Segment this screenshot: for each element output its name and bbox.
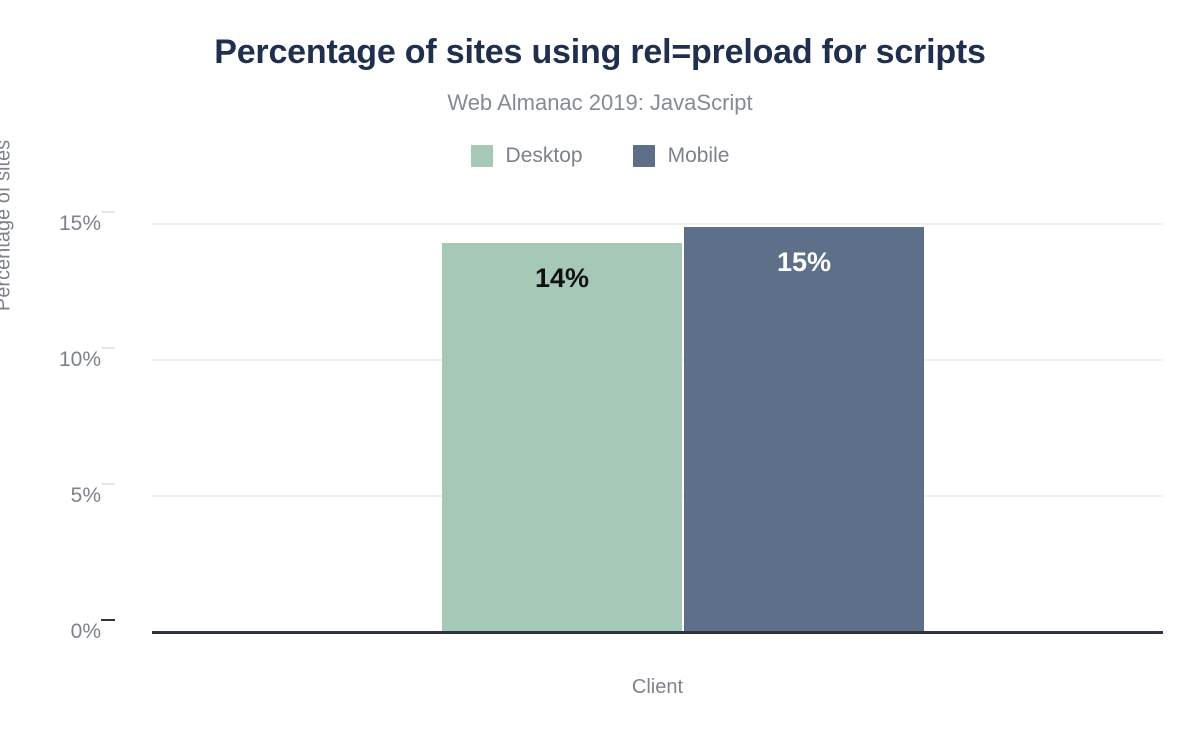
bar-value-label-mobile: 15% [684, 247, 924, 278]
legend-item-mobile[interactable]: Mobile [633, 144, 730, 168]
y-axis-title: Percentage of sites [0, 0, 16, 486]
legend-swatch-mobile [633, 145, 655, 167]
chart-title: Percentage of sites using rel=preload fo… [0, 33, 1200, 72]
legend-swatch-desktop [471, 145, 493, 167]
bar-value-label-desktop: 14% [442, 263, 682, 294]
plot-area: 0%5%10%15%14%15% [152, 205, 1163, 632]
gridline [152, 223, 1163, 225]
x-axis-title: Client [152, 676, 1163, 699]
legend-label-mobile: Mobile [668, 144, 730, 168]
chart-legend: Desktop Mobile [0, 144, 1200, 168]
y-axis-tick-label: 10% [0, 348, 101, 372]
y-axis-tick-label: 5% [0, 484, 101, 508]
y-axis-tick-mark [101, 211, 115, 213]
y-axis-tick-label: 0% [0, 620, 101, 644]
legend-label-desktop: Desktop [506, 144, 583, 168]
bar-mobile[interactable]: 15% [684, 227, 924, 632]
y-axis-tick-mark [101, 619, 115, 621]
y-axis-tick-label: 15% [0, 212, 101, 236]
chart-subtitle: Web Almanac 2019: JavaScript [0, 90, 1200, 116]
legend-item-desktop[interactable]: Desktop [471, 144, 583, 168]
chart-canvas: Percentage of sites using rel=preload fo… [0, 0, 1200, 742]
x-axis-line [152, 631, 1163, 634]
y-axis-tick-mark [101, 347, 115, 349]
y-axis-tick-mark [101, 483, 115, 485]
bar-desktop[interactable]: 14% [442, 243, 682, 632]
